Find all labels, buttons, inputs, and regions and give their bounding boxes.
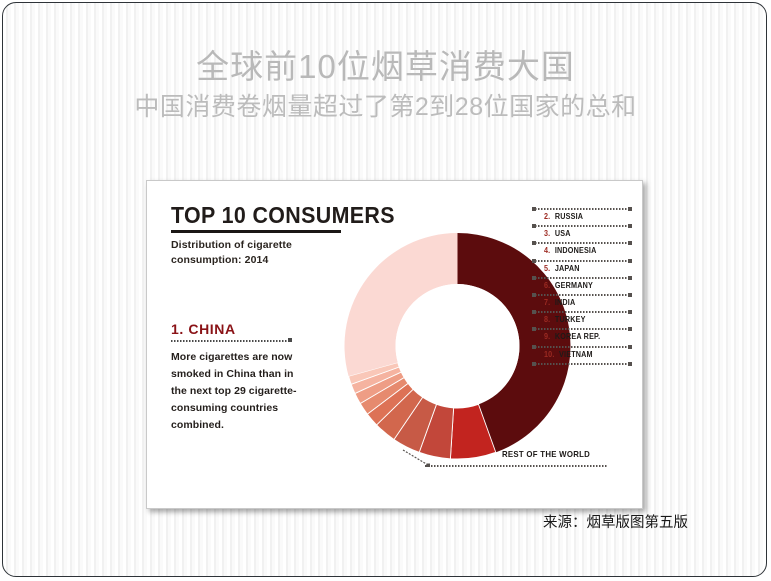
legend-entry: 6.GERMANY (544, 281, 593, 290)
legend-rank: 2. (544, 212, 550, 221)
china-leader-endpoint (288, 338, 292, 342)
page-subtitle: 中国消费卷烟量超过了第2到28位国家的总和 (3, 90, 767, 124)
legend-rank: 7. (544, 298, 550, 307)
legend-entry: 5.JAPAN (544, 264, 580, 273)
legend-rule (532, 346, 632, 348)
legend-entry: 3.USA (544, 229, 571, 238)
legend-entry: 7.INDIA (544, 298, 575, 307)
legend-country: USA (555, 229, 571, 238)
list-item[interactable]: 6.GERMANY (532, 277, 632, 294)
legend-rule (532, 277, 632, 279)
page-title: 全球前10位烟草消费大国 (3, 47, 767, 87)
list-item[interactable]: 8.TURKEY (532, 311, 632, 328)
legend-country: GERMANY (555, 281, 593, 290)
legend-rank: 4. (544, 246, 550, 255)
rest-of-world-label: REST OF THE WORLD (502, 449, 590, 459)
legend-rank: 8. (544, 315, 550, 324)
list-item[interactable]: 3.USA (532, 225, 632, 242)
legend-rule (532, 225, 632, 227)
list-item[interactable]: 2.RUSSIA (532, 208, 632, 225)
legend: 2.RUSSIA 3.USA 4.INDONESIA 5.JAPAN 6.GER… (532, 208, 632, 368)
list-item[interactable]: 5.JAPAN (532, 260, 632, 277)
china-callout-heading: 1. CHINA (171, 321, 236, 337)
list-item[interactable]: 10.VIETNAM (532, 346, 632, 363)
legend-country: JAPAN (555, 264, 580, 273)
legend-rank: 9. (544, 332, 550, 341)
donut-hole (396, 284, 520, 408)
source-caption: 来源：烟草版图第五版 (543, 511, 688, 532)
legend-entry: 10.VIETNAM (544, 350, 593, 359)
legend-entry: 4.INDONESIA (544, 246, 596, 255)
legend-country: INDONESIA (555, 246, 597, 255)
infographic-subtitle: Distribution of cigarette consumption: 2… (171, 238, 336, 268)
legend-rule (532, 242, 632, 244)
legend-entry: 2.RUSSIA (544, 212, 583, 221)
legend-country: KOREA REP. (555, 332, 600, 341)
legend-country: RUSSIA (555, 212, 583, 221)
legend-entry: 8.TURKEY (544, 315, 586, 324)
legend-rule (532, 260, 632, 262)
list-item[interactable] (532, 363, 632, 380)
legend-country: VIETNAM (559, 350, 593, 359)
list-item[interactable]: 7.INDIA (532, 294, 632, 311)
legend-rule (532, 328, 632, 330)
list-item[interactable]: 4.INDONESIA (532, 242, 632, 259)
list-item[interactable]: 9.KOREA REP. (532, 328, 632, 345)
title-divider (171, 230, 341, 233)
legend-rule (532, 208, 632, 210)
infographic-card: TOP 10 CONSUMERS Distribution of cigaret… (146, 180, 643, 509)
legend-rank: 5. (544, 264, 550, 273)
legend-country: TURKEY (555, 315, 586, 324)
legend-rule (532, 363, 632, 365)
china-leader-line (171, 340, 289, 342)
legend-rule (532, 311, 632, 313)
legend-rank: 3. (544, 229, 550, 238)
legend-rank: 10. (544, 350, 555, 359)
china-callout-body: More cigarettes are now smoked in China … (171, 349, 299, 434)
title-block: 全球前10位烟草消费大国 中国消费卷烟量超过了第2到28位国家的总和 (3, 47, 767, 124)
legend-country: INDIA (555, 298, 576, 307)
slide-page: 全球前10位烟草消费大国 中国消费卷烟量超过了第2到28位国家的总和 TOP 1… (2, 2, 767, 577)
legend-rule (532, 294, 632, 296)
legend-entry: 9.KOREA REP. (544, 332, 600, 341)
legend-rank: 6. (544, 281, 550, 290)
rest-of-world-rule (425, 465, 608, 467)
